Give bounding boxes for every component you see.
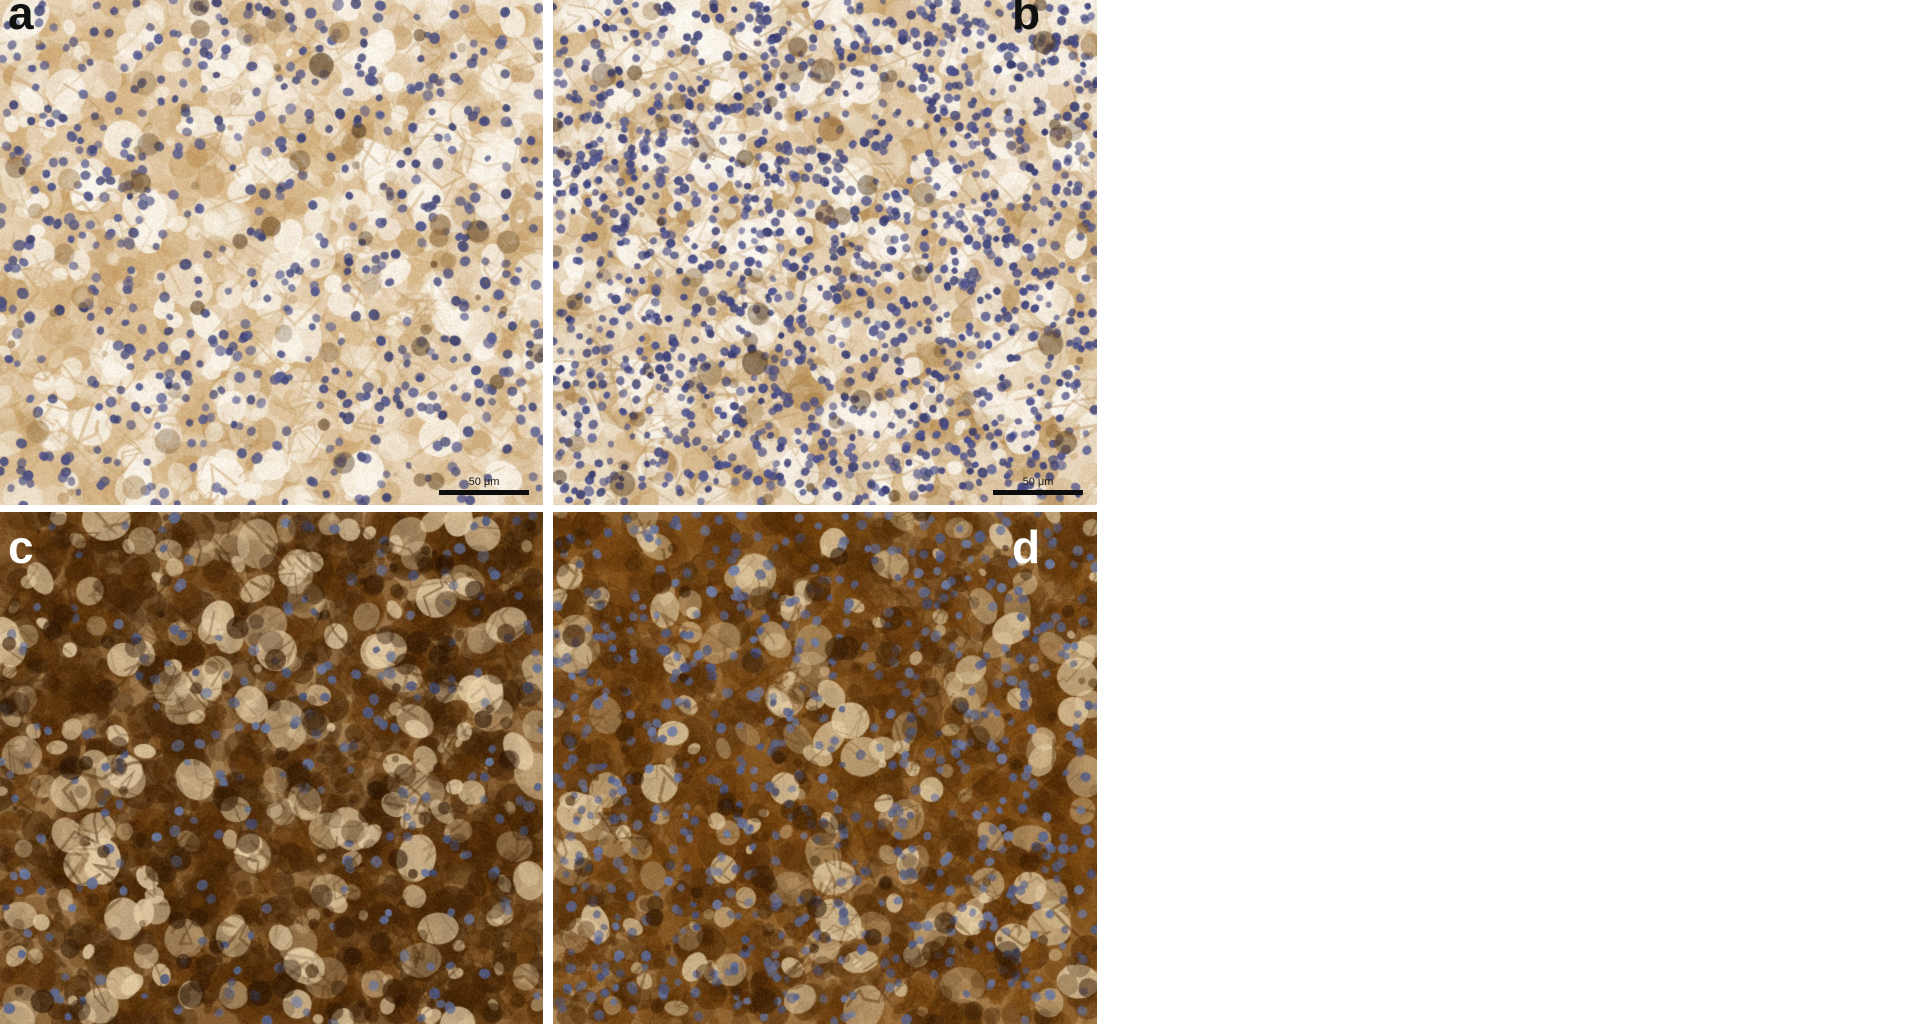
- scale-bar-line-b: [993, 490, 1083, 495]
- micrograph-image-d: [553, 512, 1097, 1024]
- scale-bar-b: 50 μm: [993, 476, 1083, 495]
- micrograph-image-b: [553, 0, 1097, 505]
- scale-bar-line-a: [439, 490, 529, 495]
- micrograph-image-c: [0, 512, 543, 1024]
- scale-bar-a: 50 μm: [439, 476, 529, 495]
- panel-label-d: d: [1012, 524, 1040, 570]
- micrograph-panel-b: b 50 μm: [553, 0, 1097, 505]
- micrograph-panel-d: d: [553, 512, 1097, 1024]
- chart-panel-e: e expression of reticulocalbin-1 low hig…: [1097, 0, 1920, 1024]
- micrograph-panel-a: a 50 μm: [0, 0, 543, 505]
- micrograph-panel-c: c: [0, 512, 543, 1024]
- panel-label-a: a: [8, 0, 33, 36]
- figure-root: a 50 μm b 50 μm c d e expression of reti…: [0, 0, 1920, 1024]
- panel-label-b: b: [1012, 0, 1040, 36]
- panel-label-c: c: [8, 524, 33, 570]
- scale-bar-label-b: 50 μm: [993, 476, 1083, 488]
- scale-bar-label-a: 50 μm: [439, 476, 529, 488]
- micrograph-image-a: [0, 0, 543, 505]
